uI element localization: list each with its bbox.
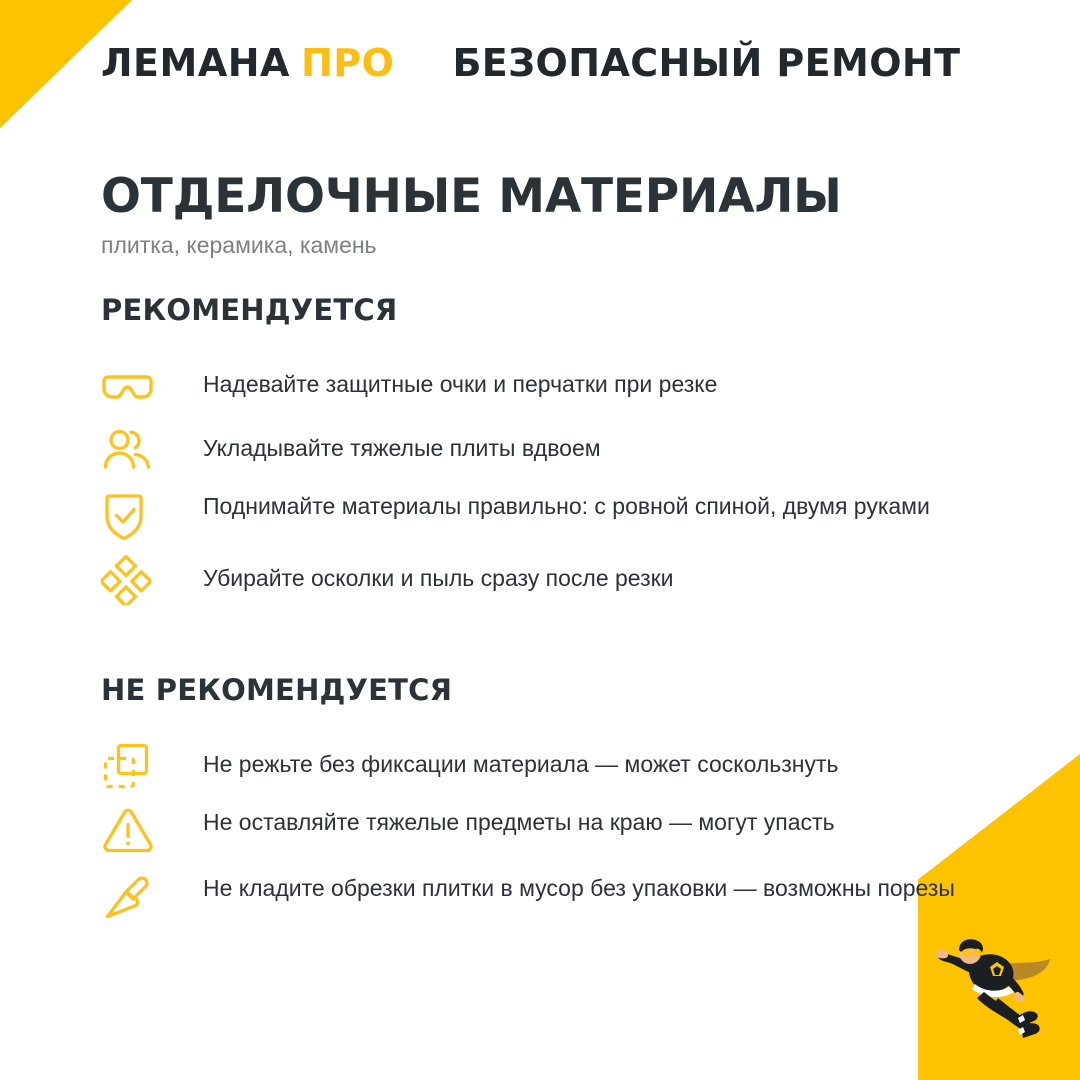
two-people-icon bbox=[101, 425, 159, 475]
shield-check-icon bbox=[101, 489, 159, 541]
header: ЛЕМАНАПРО БЕЗОПАСНЫЙ РЕМОНТ bbox=[101, 44, 960, 82]
brand-logo: ЛЕМАНАПРО bbox=[101, 44, 394, 82]
list-item: Не оставляйте тяжелые предметы на краю —… bbox=[101, 805, 981, 857]
list-item-text: Не оставляйте тяжелые предметы на краю —… bbox=[203, 805, 978, 839]
list-item-text: Не режьте без фиксации материала — может… bbox=[203, 741, 978, 781]
list-item: Не режьте без фиксации материала — может… bbox=[101, 741, 981, 791]
section-not-recommended: НЕ РЕКОМЕНДУЕТСЯ Не режьте без фиксации … bbox=[101, 676, 981, 923]
logo-lemana-text: ЛЕМАНА bbox=[101, 41, 290, 85]
flying-superhero-mascot bbox=[922, 926, 1058, 1046]
list-item: Не кладите обрезки плитки в мусор без уп… bbox=[101, 871, 981, 923]
knife-icon bbox=[101, 871, 159, 923]
safety-goggles-icon bbox=[101, 361, 159, 411]
section-recommended-heading: РЕКОМЕНДУЕТСЯ bbox=[101, 296, 981, 325]
not-recommended-item-list: Не режьте без фиксации материала — может… bbox=[101, 741, 981, 923]
section-recommended: РЕКОМЕНДУЕТСЯ Надевайте защитные очки и … bbox=[101, 296, 981, 605]
list-item: Укладывайте тяжелые плиты вдвоем bbox=[101, 425, 981, 475]
unfixed-square-icon bbox=[101, 741, 159, 791]
list-item: Поднимайте материалы правильно: с ровной… bbox=[101, 489, 981, 541]
page-subtitle: плитка, керамика, камень bbox=[101, 232, 981, 260]
list-item-text: Укладывайте тяжелые плиты вдвоем bbox=[203, 425, 978, 465]
section-not-recommended-heading: НЕ РЕКОМЕНДУЕТСЯ bbox=[101, 676, 981, 705]
four-diamonds-icon bbox=[101, 555, 159, 605]
title-block: ОТДЕЛОЧНЫЕ МАТЕРИАЛЫ плитка, керамика, к… bbox=[101, 172, 981, 259]
list-item-text: Надевайте защитные очки и перчатки при р… bbox=[203, 361, 978, 401]
list-item-text: Не кладите обрезки плитки в мусор без уп… bbox=[203, 871, 978, 905]
recommended-item-list: Надевайте защитные очки и перчатки при р… bbox=[101, 361, 981, 605]
logo-pro-text: ПРО bbox=[301, 41, 394, 85]
list-item: Надевайте защитные очки и перчатки при р… bbox=[101, 361, 981, 411]
list-item: Убирайте осколки и пыль сразу после резк… bbox=[101, 555, 981, 605]
warning-triangle-icon bbox=[101, 805, 159, 857]
campaign-title: БЕЗОПАСНЫЙ РЕМОНТ bbox=[452, 44, 960, 82]
list-item-text: Поднимайте материалы правильно: с ровной… bbox=[203, 489, 978, 523]
page-title: ОТДЕЛОЧНЫЕ МАТЕРИАЛЫ bbox=[101, 172, 981, 222]
safety-infographic-poster: ЛЕМАНАПРО БЕЗОПАСНЫЙ РЕМОНТ ОТДЕЛОЧНЫЕ М… bbox=[0, 0, 1080, 1080]
list-item-text: Убирайте осколки и пыль сразу после резк… bbox=[203, 555, 978, 595]
